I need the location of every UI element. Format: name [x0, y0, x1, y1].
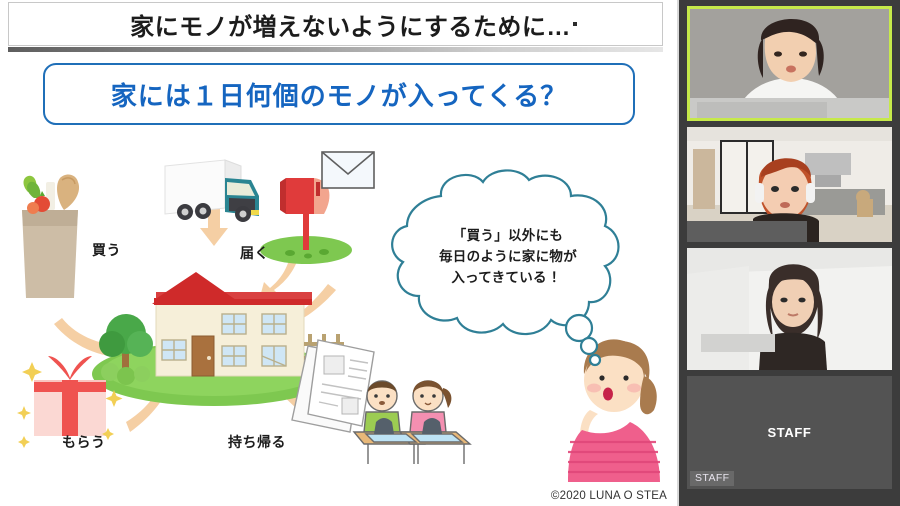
label-deliver: 届く [240, 243, 269, 263]
question-text: 家には１日何個のモノが入ってくる？ [111, 76, 567, 113]
video-tile-4-name-badge: STAFF [690, 471, 734, 486]
children-at-desks-illustration [354, 381, 470, 465]
label-receive: もらう [62, 432, 106, 452]
video-tile-3-feed [687, 248, 892, 370]
participant-video-rail: STAFF STAFF [679, 0, 900, 506]
label-buy: 買う [92, 240, 121, 260]
video-tile-4-camera-off[interactable]: STAFF STAFF [687, 376, 892, 489]
grocery-bag-illustration [22, 175, 79, 298]
title-decoration-dot [573, 22, 577, 26]
label-bring-home: 持ち帰る [228, 432, 286, 452]
video-tile-3[interactable] [687, 248, 892, 370]
video-tile-2-feed [687, 127, 892, 242]
slide-title-bar: 家にモノが増えないようにするために… [8, 2, 663, 46]
zoom-meeting-screenshare-view: 家にモノが増えないようにするために… 家には１日何個のモノが入ってくる？ [0, 0, 900, 506]
envelope-icon [322, 152, 374, 188]
bubble-line-1: 「買う」以外にも [405, 226, 611, 247]
copyright-notice: ©2020 LUNA O STEA [551, 490, 667, 502]
mailbox-illustration [260, 178, 352, 264]
bubble-line-2: 毎日のように家に物が [405, 247, 611, 268]
bubble-line-3: 入ってきている ！ [405, 268, 611, 289]
video-tile-1[interactable] [687, 6, 892, 121]
thought-bubble: 「買う」以外にも 毎日のように家に物が 入ってきている ！ [383, 168, 629, 378]
thought-bubble-text: 「買う」以外にも 毎日のように家に物が 入ってきている ！ [405, 226, 611, 289]
slide-title-rule [8, 47, 663, 52]
video-tile-2[interactable] [687, 127, 892, 242]
video-tile-1-feed [687, 6, 892, 121]
video-tile-4-center-label: STAFF [768, 425, 812, 440]
shared-slide-region: 家にモノが増えないようにするために… 家には１日何個のモノが入ってくる？ [0, 0, 679, 506]
slide-title: 家にモノが増えないようにするために… [100, 7, 571, 42]
question-callout-box: 家には１日何個のモノが入ってくる？ [43, 63, 635, 125]
